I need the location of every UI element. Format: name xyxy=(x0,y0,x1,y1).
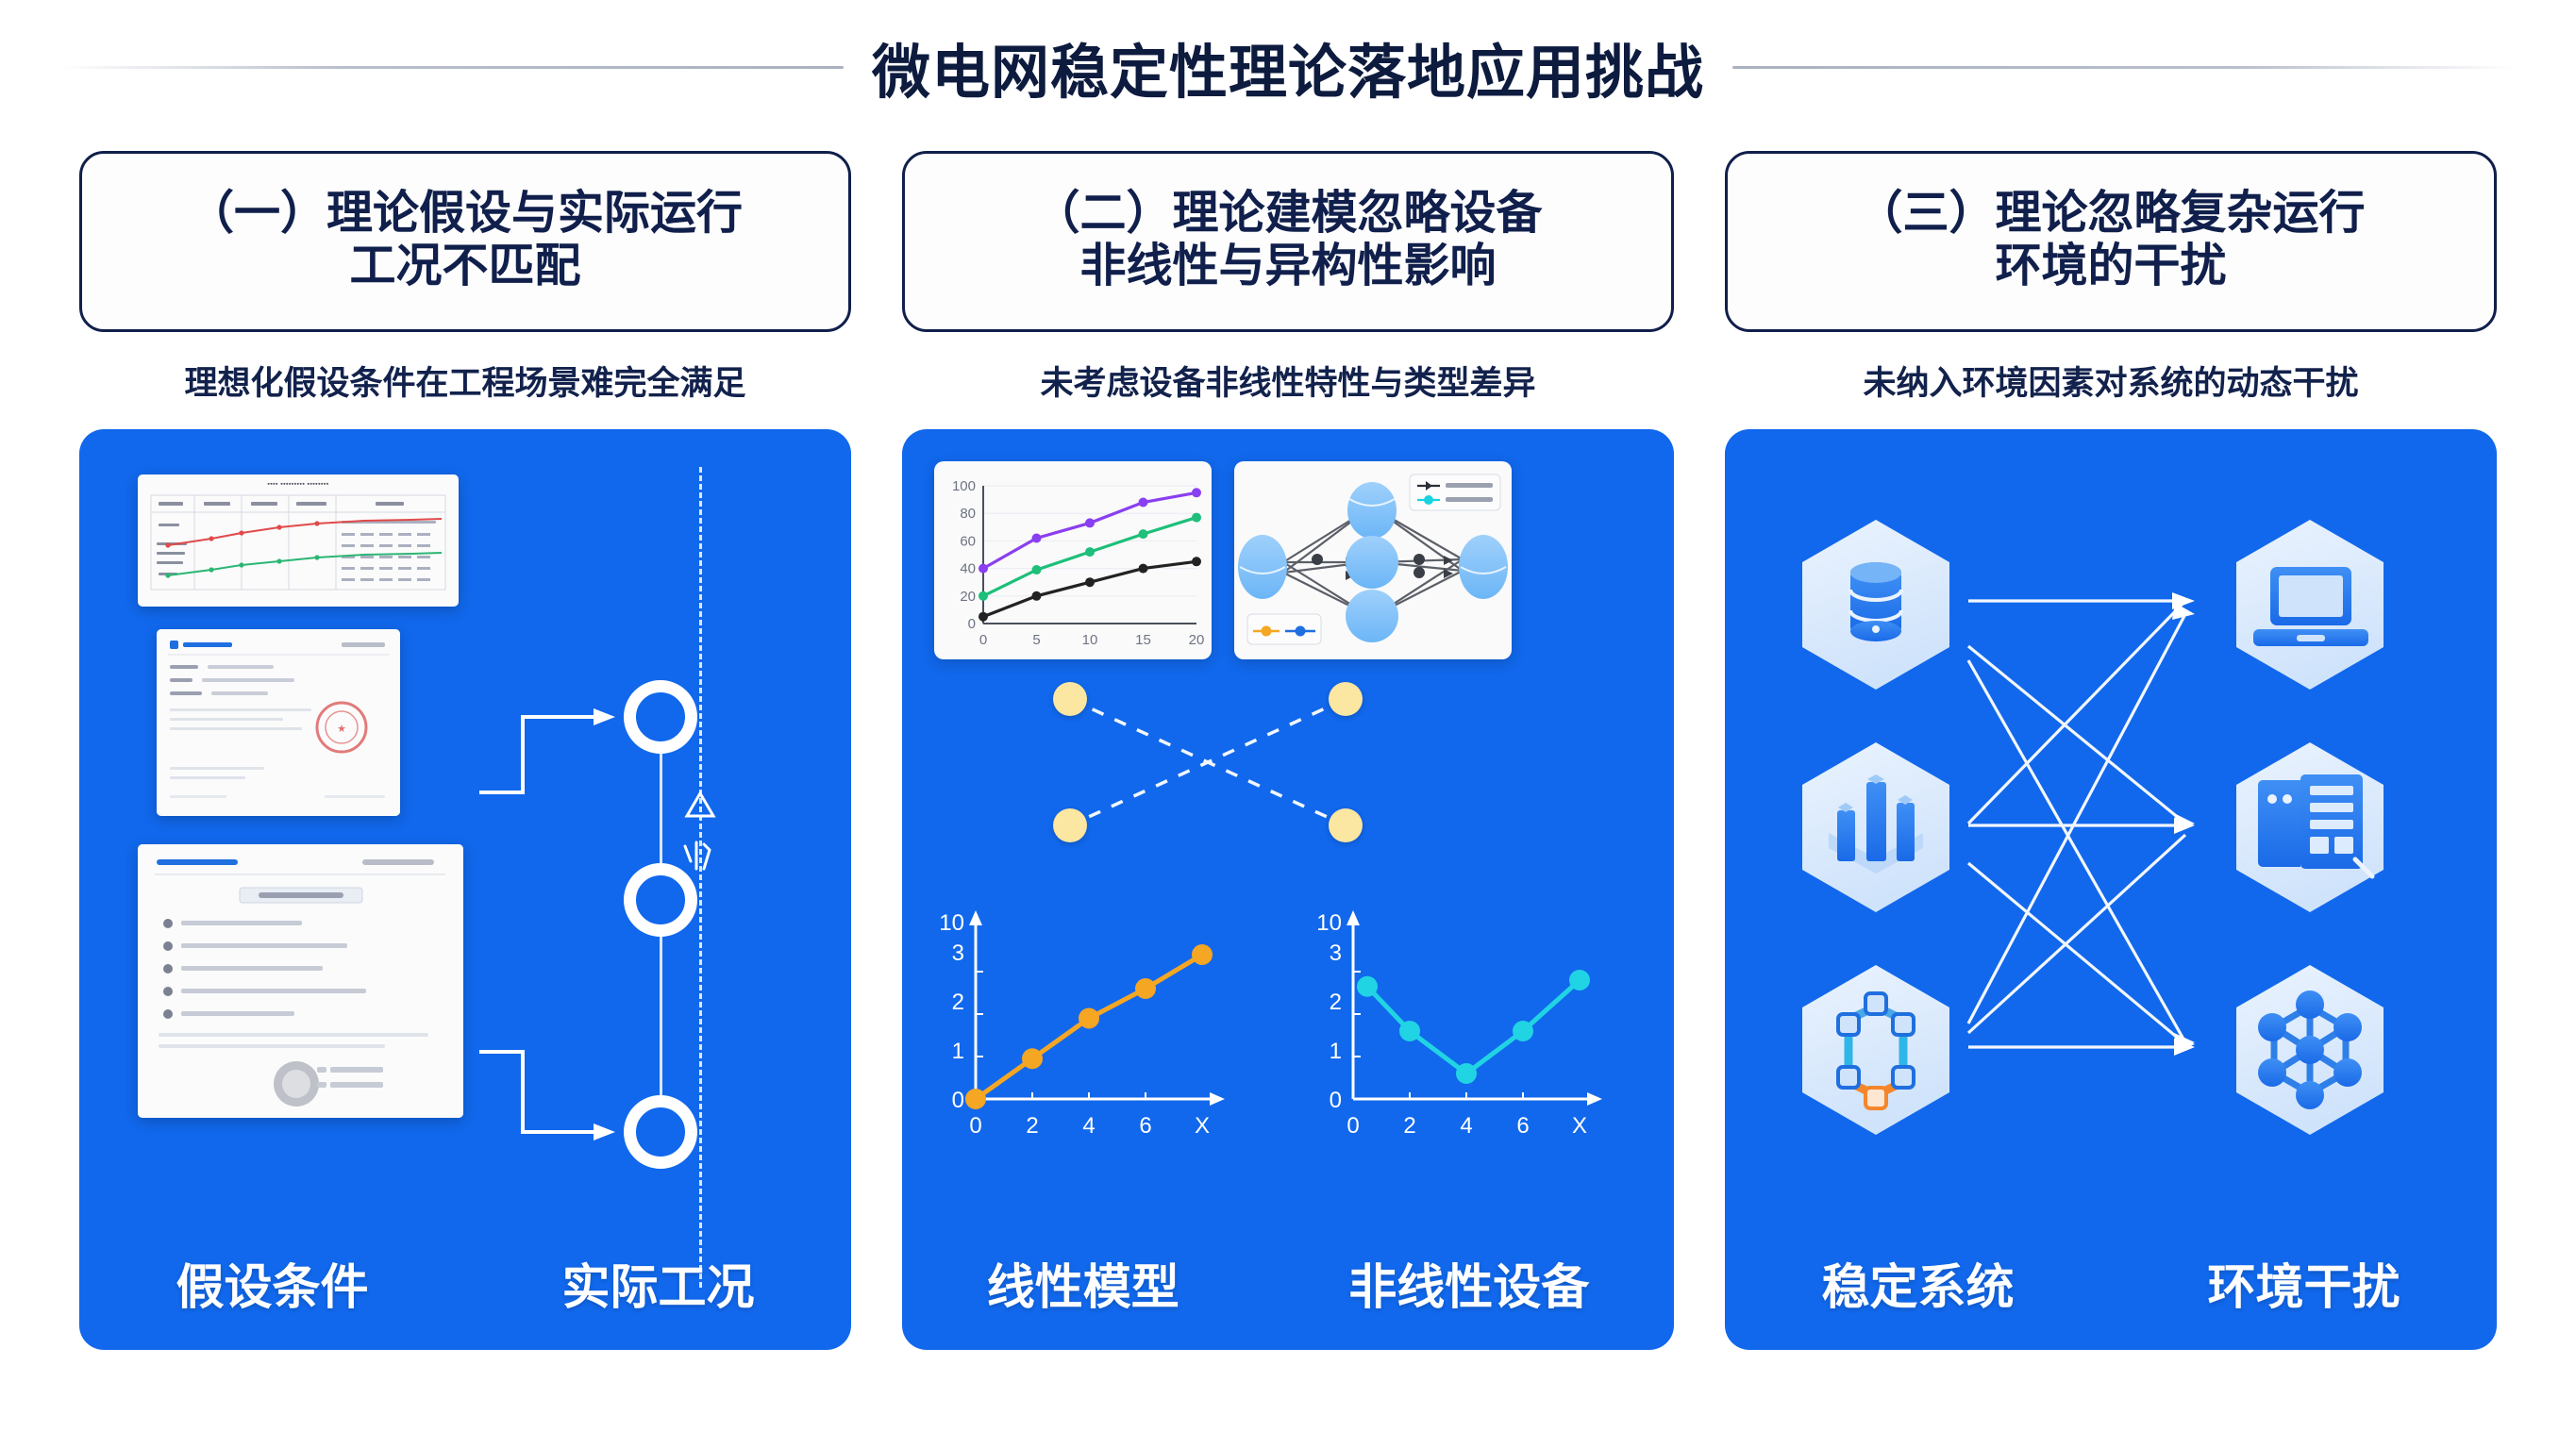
svg-text:2: 2 xyxy=(1403,1113,1415,1139)
challenge-card-2-line-2: 非线性与异构性影响 xyxy=(1079,241,1496,293)
svg-text:3: 3 xyxy=(952,940,964,966)
svg-text:2: 2 xyxy=(952,990,964,1015)
svg-text:10: 10 xyxy=(939,910,964,936)
linear-model-chart: 012310 0246X xyxy=(919,901,1249,1146)
panel-3-labels: 稳定系统 环境干扰 xyxy=(1725,1248,2497,1318)
laptop-hex-icon xyxy=(2236,520,2384,690)
panel-1-labels: 假设条件 实际工况 xyxy=(79,1248,851,1318)
panel-3-left-label: 稳定系统 xyxy=(1821,1248,2014,1318)
title-rule-right xyxy=(1732,66,2516,69)
hexagon-ring-hex-icon xyxy=(1802,965,1949,1135)
svg-text:3: 3 xyxy=(1330,940,1342,966)
ring-node-icon xyxy=(624,680,697,754)
ring-node-icon xyxy=(624,1095,697,1169)
svg-text:0: 0 xyxy=(1330,1088,1342,1113)
yellow-dot-icon xyxy=(1053,682,1087,716)
challenge-card-3[interactable]: （三）理论忽略复杂运行 环境的干扰 xyxy=(1725,151,2497,332)
panel-1-left-label: 假设条件 xyxy=(176,1248,368,1318)
svg-text:0: 0 xyxy=(952,1088,964,1113)
svg-text:4: 4 xyxy=(1082,1113,1095,1139)
column-1: （一）理论假设与实际运行 工况不匹配 理想化假设条件在工程场景难完全满足 ▪▪▪… xyxy=(78,151,852,1434)
title-rule-left xyxy=(60,66,844,69)
svg-text:1: 1 xyxy=(1330,1039,1342,1064)
server-document-hex-icon xyxy=(2236,742,2384,912)
svg-text:4: 4 xyxy=(1460,1113,1472,1139)
svg-text:0: 0 xyxy=(969,1113,981,1139)
page-title-row: 微电网稳定性理论落地应用挑战 xyxy=(0,26,2576,108)
arrow-right-icon xyxy=(79,429,851,1350)
nonlinear-device-chart: 012310 0246X xyxy=(1296,901,1627,1146)
bar-chart-hex-icon xyxy=(1802,742,1949,912)
dashed-cross-icon xyxy=(902,429,1674,1350)
column-3: （三）理论忽略复杂运行 环境的干扰 未纳入环境因素对系统的动态干扰 xyxy=(1724,151,2498,1434)
svg-text:10: 10 xyxy=(1316,910,1342,936)
network-graph-hex-icon xyxy=(2236,965,2384,1135)
svg-text:0: 0 xyxy=(1347,1113,1359,1139)
column-2: （二）理论建模忽略设备 非线性与异构性影响 未考虑设备非线性特性与类型差异 02… xyxy=(901,151,1675,1434)
challenge-subtitle-1: 理想化假设条件在工程场景难完全满足 xyxy=(184,357,745,405)
challenge-subtitle-2: 未考虑设备非线性特性与类型差异 xyxy=(1040,357,1535,405)
divider-glyphs-icon xyxy=(676,788,725,910)
challenge-card-1-line-2: 工况不匹配 xyxy=(349,241,580,293)
page-title: 微电网稳定性理论落地应用挑战 xyxy=(872,25,1704,109)
challenge-card-1[interactable]: （一）理论假设与实际运行 工况不匹配 xyxy=(79,151,851,332)
ring-connector xyxy=(660,935,662,1097)
svg-text:1: 1 xyxy=(952,1039,964,1064)
illustration-panel-2: 020406080100 05101520 xyxy=(902,429,1674,1350)
panel-2-labels: 线性模型 非线性设备 xyxy=(902,1248,1674,1318)
yellow-dot-icon xyxy=(1053,808,1087,842)
svg-text:6: 6 xyxy=(1139,1113,1151,1139)
challenge-card-2-line-1: （二）理论建模忽略设备 xyxy=(1033,188,1542,241)
challenge-card-2[interactable]: （二）理论建模忽略设备 非线性与异构性影响 xyxy=(902,151,1674,332)
illustration-panel-3: 稳定系统 环境干扰 xyxy=(1725,429,2497,1350)
ring-connector xyxy=(660,752,662,865)
database-hex-icon xyxy=(1802,520,1949,690)
panel-1-right-label: 实际工况 xyxy=(561,1248,754,1318)
svg-text:6: 6 xyxy=(1516,1113,1529,1139)
yellow-dot-icon xyxy=(1329,808,1363,842)
panel-3-right-label: 环境干扰 xyxy=(2207,1248,2400,1318)
challenge-card-3-line-2: 环境的干扰 xyxy=(1995,241,2226,293)
columns-container: （一）理论假设与实际运行 工况不匹配 理想化假设条件在工程场景难完全满足 ▪▪▪… xyxy=(0,151,2576,1434)
svg-text:2: 2 xyxy=(1330,990,1342,1015)
challenge-card-1-line-1: （一）理论假设与实际运行 xyxy=(188,188,743,241)
illustration-panel-1: ▪▪▪▪ ▪▪▪▪▪▪▪▪▪ ▪▪▪▪▪▪▪▪ xyxy=(79,429,851,1350)
yellow-dot-icon xyxy=(1329,682,1363,716)
panel-2-left-label: 线性模型 xyxy=(987,1248,1179,1318)
panel-2-right-label: 非线性设备 xyxy=(1348,1248,1589,1318)
challenge-subtitle-3: 未纳入环境因素对系统的动态干扰 xyxy=(1863,357,2358,405)
svg-text:2: 2 xyxy=(1026,1113,1038,1139)
svg-text:X: X xyxy=(1572,1113,1587,1139)
svg-text:X: X xyxy=(1195,1113,1210,1139)
challenge-card-3-line-1: （三）理论忽略复杂运行 xyxy=(1856,188,2365,241)
